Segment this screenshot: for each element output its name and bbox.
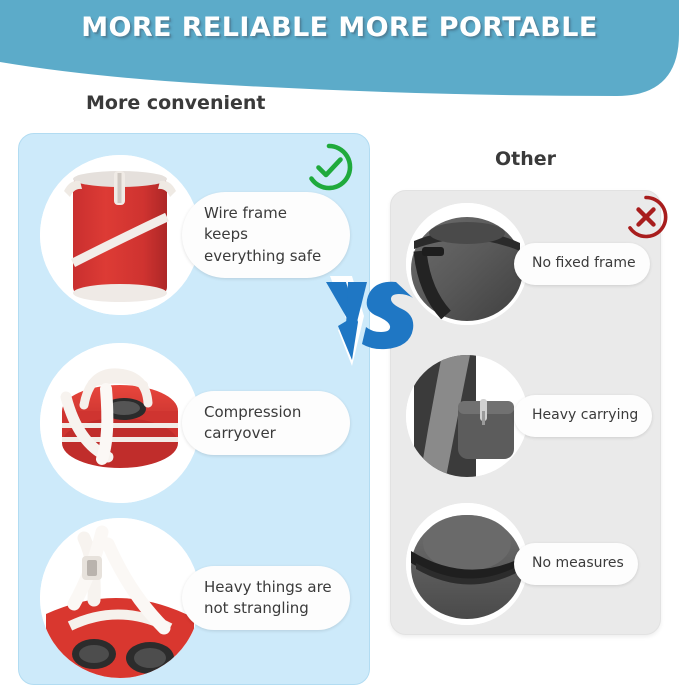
right-feature-3-label: No measures [514, 543, 638, 585]
versus-badge [322, 268, 414, 366]
header-banner: MORE RELIABLE MORE PORTABLE [0, 0, 679, 96]
left-feature-1: Wire frame keeps everything safe [40, 155, 362, 315]
infographic-page: MORE RELIABLE MORE PORTABLE More conveni… [0, 0, 679, 691]
gray-bag-collapsed-photo [406, 503, 528, 625]
red-hamper-folded-photo [40, 343, 200, 503]
left-feature-2-label: Compression carryover [182, 391, 350, 456]
right-feature-1: No fixed frame [406, 203, 654, 325]
left-column-heading: More convenient [86, 92, 265, 114]
red-hamper-straps-photo [40, 518, 200, 678]
vs-lightning-icon [322, 268, 414, 366]
left-feature-3: Heavy things are not strangling [40, 518, 362, 678]
page-title: MORE RELIABLE MORE PORTABLE [0, 12, 679, 43]
red-hamper-upright-photo [40, 155, 200, 315]
right-feature-2: Heavy carrying [406, 355, 654, 477]
gray-bag-top-photo [406, 203, 528, 325]
right-feature-1-label: No fixed frame [514, 243, 650, 285]
right-feature-3: No measures [406, 503, 654, 625]
left-feature-1-label: Wire frame keeps everything safe [182, 192, 350, 278]
left-feature-3-label: Heavy things are not strangling [182, 566, 350, 631]
left-feature-2: Compression carryover [40, 343, 362, 503]
right-column-heading: Other [495, 148, 556, 170]
gray-bag-carry-photo [406, 355, 528, 477]
right-feature-2-label: Heavy carrying [514, 395, 652, 437]
